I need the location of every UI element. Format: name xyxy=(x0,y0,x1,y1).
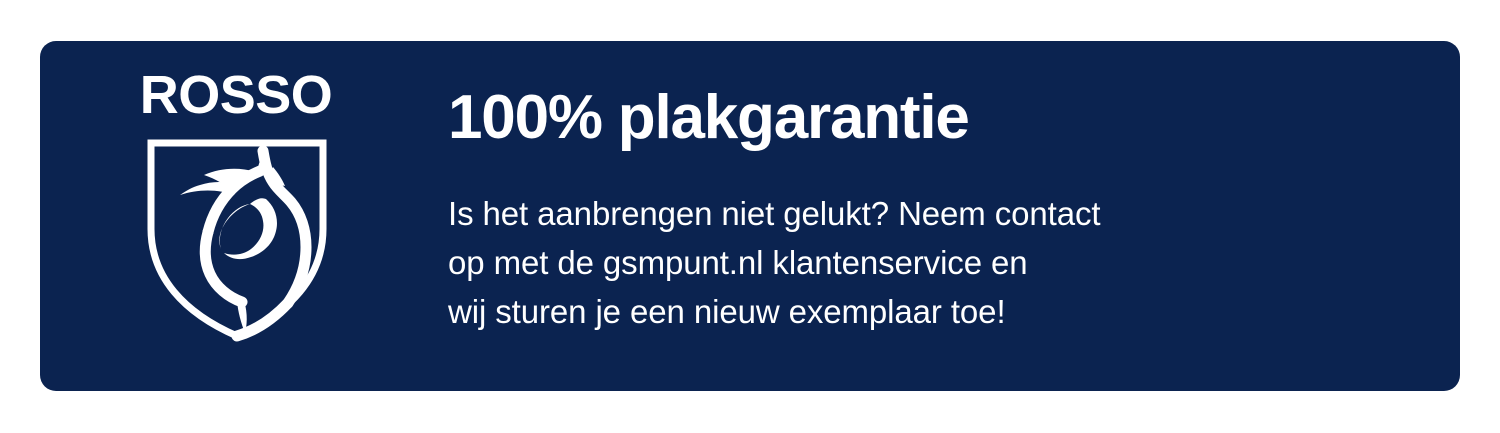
promo-body-line-2: op met de gsmpunt.nl klantenservice en xyxy=(448,238,1438,287)
rosso-shield-horse-logo-icon xyxy=(142,137,332,342)
rosso-logo: ROSSO xyxy=(136,67,336,347)
plakgarantie-card: ROSSO xyxy=(40,41,1460,391)
promo-heading: 100% plakgarantie xyxy=(448,81,969,155)
promo-banner: ROSSO xyxy=(0,0,1500,433)
rosso-wordmark: ROSSO xyxy=(136,67,336,123)
promo-text-block: 100% plakgarantie Is het aanbrengen niet… xyxy=(448,41,1438,391)
promo-body: Is het aanbrengen niet gelukt? Neem cont… xyxy=(448,189,1438,336)
promo-body-line-1: Is het aanbrengen niet gelukt? Neem cont… xyxy=(448,189,1438,238)
promo-body-line-3: wij sturen je een nieuw exemplaar toe! xyxy=(448,287,1438,336)
